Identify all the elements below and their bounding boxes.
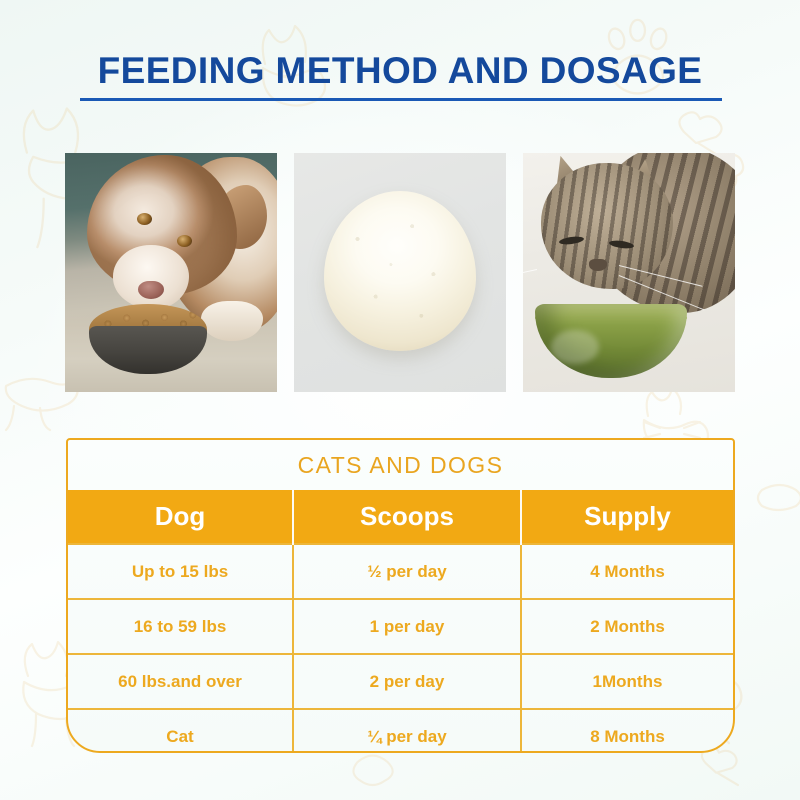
photo-strip (65, 153, 735, 392)
cell-scoops: 2 per day (293, 654, 521, 709)
table-row: 60 lbs.and over 2 per day 1Months (68, 654, 733, 709)
cell-scoops: ¼ per day (293, 709, 521, 753)
powder-pile (324, 191, 476, 351)
cell-weight: Cat (68, 709, 293, 753)
dog-eye-right (177, 235, 192, 247)
dosage-table: CATS AND DOGS Dog Scoops Supply Up to 15… (68, 440, 733, 753)
table-caption-row: CATS AND DOGS (68, 440, 733, 490)
cat-eating-photo (523, 153, 735, 392)
dog-eye-left (137, 213, 152, 225)
column-header-supply: Supply (521, 490, 733, 544)
feeding-dosage-infographic: FEEDING METHOD AND DOSAGE (0, 0, 800, 800)
table-caption: CATS AND DOGS (68, 440, 733, 490)
powder-supplement-photo (294, 153, 506, 392)
cell-weight: 16 to 59 lbs (68, 599, 293, 654)
cell-scoops: ½ per day (293, 544, 521, 599)
powder-grain-texture (324, 191, 476, 351)
dosage-table-card: CATS AND DOGS Dog Scoops Supply Up to 15… (66, 438, 735, 753)
cell-scoops: 1 per day (293, 599, 521, 654)
cell-supply: 4 Months (521, 544, 733, 599)
dog-eating-kibble-photo (65, 153, 277, 392)
green-food-bowl (535, 304, 687, 378)
cell-supply: 8 Months (521, 709, 733, 753)
whisker (523, 269, 537, 282)
table-row: Up to 15 lbs ½ per day 4 Months (68, 544, 733, 599)
cell-supply: 1Months (521, 654, 733, 709)
cell-weight: 60 lbs.and over (68, 654, 293, 709)
table-row: Cat ¼ per day 8 Months (68, 709, 733, 753)
cell-weight: Up to 15 lbs (68, 544, 293, 599)
table-header-row: Dog Scoops Supply (68, 490, 733, 544)
title-underline (80, 98, 722, 101)
page-title-wrap: FEEDING METHOD AND DOSAGE (0, 52, 800, 89)
dog-muzzle (113, 245, 189, 309)
column-header-scoops: Scoops (293, 490, 521, 544)
cat-nose (589, 259, 607, 271)
column-header-dog: Dog (68, 490, 293, 544)
table-row: 16 to 59 lbs 1 per day 2 Months (68, 599, 733, 654)
cell-supply: 2 Months (521, 599, 733, 654)
cat-head (541, 163, 673, 289)
page-title: FEEDING METHOD AND DOSAGE (0, 52, 800, 89)
